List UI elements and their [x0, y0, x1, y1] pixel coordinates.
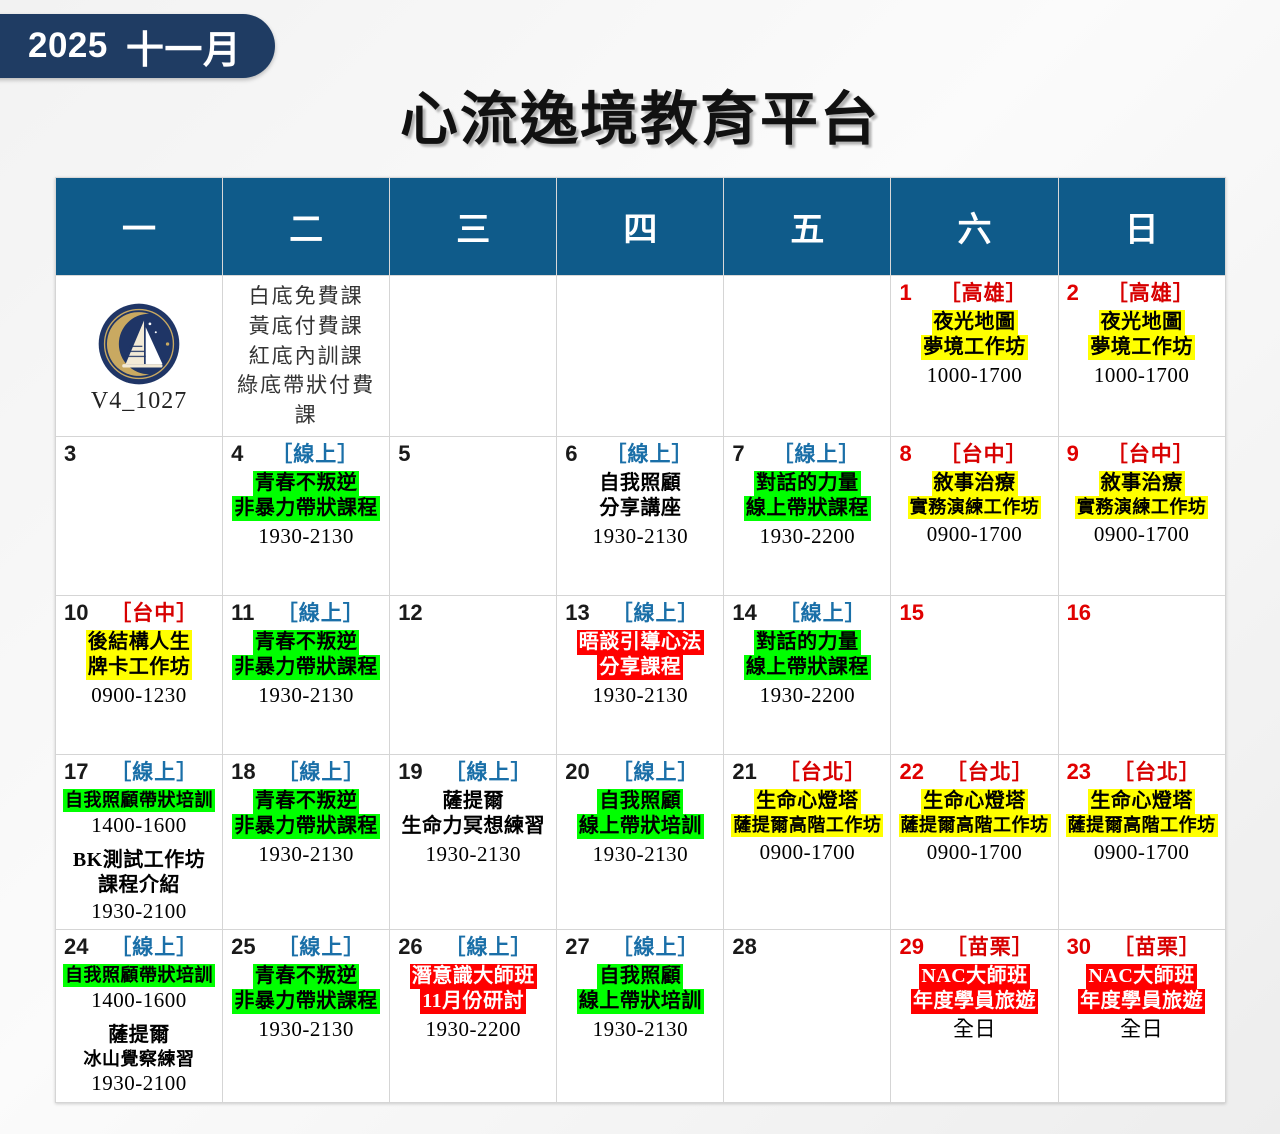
calendar-day-12[interactable]: 12 — [390, 596, 557, 755]
event-title-line2: 夢境工作坊 — [921, 335, 1028, 360]
day-venue: ［線上］ — [264, 602, 385, 624]
weekday-header-row: 一 二 三 四 五 六 日 — [56, 178, 1226, 276]
calendar-day-21[interactable]: 21 ［台北］ 生命心燈塔 薩提爾高階工作坊 0900-1700 — [724, 755, 891, 930]
day-number: 22 — [899, 760, 923, 783]
event-title-line1: 自我照顧 — [561, 471, 719, 496]
event-time: 0900-1700 — [728, 839, 886, 866]
page-title: 心流逸境教育平台 — [0, 72, 1280, 156]
calendar-day-empty — [724, 276, 891, 437]
day-number: 25 — [231, 935, 255, 958]
event-time: 0900-1230 — [60, 682, 218, 709]
calendar-day-2[interactable]: 2 ［高雄］ 夜光地圖 夢境工作坊 1000-1700 — [1058, 276, 1225, 437]
event-item[interactable]: NAC大師班 年度學員旅遊 全日 — [895, 964, 1053, 1043]
event-item[interactable]: 潛意識大師班 11月份研討 1930-2200 — [394, 964, 552, 1043]
event-item[interactable]: 敘事治療 實務演練工作坊 0900-1700 — [1063, 471, 1221, 548]
event-item[interactable]: 晤談引導心法 分享課程 1930-2130 — [561, 630, 719, 709]
event-time: 1930-2130 — [227, 841, 385, 868]
logo-cell: V4_1027 — [56, 276, 223, 437]
badge-month: 十一月 — [126, 19, 242, 74]
event-item[interactable]: 生命心燈塔 薩提爾高階工作坊 0900-1700 — [895, 789, 1053, 866]
day-venue: ［高雄］ — [1089, 282, 1221, 304]
event-title-line2: 線上帶狀培訓 — [577, 814, 704, 839]
calendar-day-24[interactable]: 24 ［線上］ 自我照顧帶狀培訓 1400-1600 薩提爾 冰山覺察練習 19… — [56, 930, 223, 1103]
event-title-line2: 牌卡工作坊 — [86, 655, 193, 680]
event-title-line2: 薩提爾高階工作坊 — [899, 814, 1051, 837]
event-time: 1930-2100 — [60, 898, 218, 925]
day-number: 9 — [1067, 442, 1079, 465]
event-time: 1000-1700 — [1063, 362, 1221, 389]
calendar-day-1[interactable]: 1 ［高雄］ 夜光地圖 夢境工作坊 1000-1700 — [891, 276, 1058, 437]
calendar-week-row: 24 ［線上］ 自我照顧帶狀培訓 1400-1600 薩提爾 冰山覺察練習 19… — [56, 930, 1226, 1103]
calendar-day-16[interactable]: 16 — [1058, 596, 1225, 755]
legend-cell: 白底免費課 黃底付費課 紅底內訓課 綠底帶狀付費課 — [223, 276, 390, 437]
event-item[interactable]: NAC大師班 年度學員旅遊 全日 — [1063, 964, 1221, 1043]
event-item[interactable]: BK測試工作坊 課程介紹 1930-2100 — [60, 848, 218, 925]
legend-item-internal: 紅底內訓課 — [227, 342, 385, 372]
event-item[interactable]: 後結構人生 牌卡工作坊 0900-1230 — [60, 630, 218, 709]
event-title-line2: 非暴力帶狀課程 — [232, 496, 380, 521]
event-title-line2: 冰山覺察練習 — [60, 1048, 218, 1071]
day-venue: ［線上］ — [767, 602, 887, 624]
event-item[interactable]: 生命心燈塔 薩提爾高階工作坊 0900-1700 — [728, 789, 886, 866]
event-time: 1930-2200 — [394, 1016, 552, 1043]
event-item[interactable]: 自我照顧 分享講座 1930-2130 — [561, 471, 719, 550]
calendar-day-11[interactable]: 11 ［線上］ 青春不叛逆 非暴力帶狀課程 1930-2130 — [223, 596, 390, 755]
calendar-day-25[interactable]: 25 ［線上］ 青春不叛逆 非暴力帶狀課程 1930-2130 — [223, 930, 390, 1103]
event-time: 1930-2200 — [728, 682, 886, 709]
calendar-day-28[interactable]: 28 — [724, 930, 891, 1103]
calendar-day-30[interactable]: 30 ［苗栗］ NAC大師班 年度學員旅遊 全日 — [1058, 930, 1225, 1103]
event-time: 0900-1700 — [1063, 521, 1221, 548]
day-venue: ［台北］ — [767, 761, 887, 783]
day-number: 16 — [1067, 601, 1091, 624]
day-venue: ［苗栗］ — [934, 936, 1054, 958]
event-item[interactable]: 自我照顧帶狀培訓 1400-1600 — [60, 964, 218, 1014]
day-venue: ［線上］ — [588, 443, 720, 465]
event-time: 1930-2130 — [227, 523, 385, 550]
event-title-line2: 實務演練工作坊 — [908, 496, 1042, 519]
day-venue: ［線上］ — [98, 936, 218, 958]
event-title-line1: 對話的力量 — [754, 471, 861, 496]
weekday-header-mon: 一 — [56, 178, 223, 276]
day-venue: ［台中］ — [1089, 443, 1221, 465]
event-title-line1: 晤談引導心法 — [577, 630, 704, 655]
event-time: 1930-2130 — [561, 682, 719, 709]
calendar-day-26[interactable]: 26 ［線上］ 潛意識大師班 11月份研討 1930-2200 — [390, 930, 557, 1103]
day-venue: ［高雄］ — [922, 282, 1054, 304]
event-title-line1: 夜光地圖 — [932, 310, 1018, 335]
event-item[interactable]: 青春不叛逆 非暴力帶狀課程 1930-2130 — [227, 789, 385, 868]
calendar-day-4[interactable]: 4 ［線上］ 青春不叛逆 非暴力帶狀課程 1930-2130 — [223, 437, 390, 596]
event-title-line1: 夜光地圖 — [1099, 310, 1185, 335]
weekday-header-sun: 日 — [1058, 178, 1225, 276]
day-number: 5 — [398, 442, 410, 465]
day-venue: ［線上］ — [266, 761, 386, 783]
day-number: 18 — [231, 760, 255, 783]
legend-item-free: 白底免費課 — [227, 282, 385, 312]
calendar-day-5[interactable]: 5 — [390, 437, 557, 596]
event-title-line1: BK測試工作坊 — [60, 848, 218, 873]
event-title-line2: 課程介紹 — [60, 873, 218, 898]
day-number: 19 — [398, 760, 422, 783]
calendar-day-29[interactable]: 29 ［苗栗］ NAC大師班 年度學員旅遊 全日 — [891, 930, 1058, 1103]
event-title-line2: 線上帶狀課程 — [744, 655, 871, 680]
event-title-line2: 線上帶狀課程 — [744, 496, 871, 521]
calendar-day-15[interactable]: 15 — [891, 596, 1058, 755]
calendar-day-23[interactable]: 23 ［台北］ 生命心燈塔 薩提爾高階工作坊 0900-1700 — [1058, 755, 1225, 930]
event-time: 1930-2130 — [227, 1016, 385, 1043]
day-venue: ［線上］ — [600, 936, 720, 958]
day-number: 15 — [899, 601, 923, 624]
event-title-line1: 青春不叛逆 — [253, 630, 360, 655]
event-title-line2: 非暴力帶狀課程 — [232, 814, 380, 839]
event-item[interactable]: 自我照顧帶狀培訓 1400-1600 — [60, 789, 218, 839]
weekday-header-thu: 四 — [557, 178, 724, 276]
event-time: 1400-1600 — [60, 812, 218, 839]
day-number: 23 — [1067, 760, 1091, 783]
event-title-line1: 生命心燈塔 — [754, 789, 861, 814]
calendar-day-6[interactable]: 6 ［線上］ 自我照顧 分享講座 1930-2130 — [557, 437, 724, 596]
day-number: 20 — [565, 760, 589, 783]
day-venue: ［線上］ — [600, 761, 720, 783]
day-number: 10 — [64, 601, 88, 624]
calendar-day-14[interactable]: 14 ［線上］ 對話的力量 線上帶狀課程 1930-2200 — [724, 596, 891, 755]
day-number: 2 — [1067, 281, 1079, 304]
day-venue: ［線上］ — [755, 443, 887, 465]
day-venue: ［線上］ — [600, 602, 720, 624]
event-title-line1: 對話的力量 — [754, 630, 861, 655]
event-title-line1: 潛意識大師班 — [410, 964, 537, 989]
event-title-line2: 年度學員旅遊 — [1078, 989, 1205, 1014]
event-time: 1930-2130 — [227, 682, 385, 709]
event-title-line1: 青春不叛逆 — [253, 471, 360, 496]
event-title-line2: 夢境工作坊 — [1088, 335, 1195, 360]
event-title-line1: NAC大師班 — [919, 964, 1029, 989]
event-title-line2: 薩提爾高階工作坊 — [731, 814, 883, 837]
day-venue: ［線上］ — [98, 761, 218, 783]
event-time: 全日 — [1063, 1016, 1221, 1043]
day-venue: ［線上］ — [433, 936, 553, 958]
event-item[interactable]: 青春不叛逆 非暴力帶狀課程 1930-2130 — [227, 964, 385, 1043]
calendar-day-10[interactable]: 10 ［台中］ 後結構人生 牌卡工作坊 0900-1230 — [56, 596, 223, 755]
event-time: 1930-2130 — [561, 1016, 719, 1043]
month-badge: 2025 十一月 — [0, 14, 275, 78]
event-time: 0900-1700 — [1063, 839, 1221, 866]
day-number: 6 — [565, 442, 577, 465]
day-venue: ［台北］ — [1101, 761, 1221, 783]
calendar-week-row: 10 ［台中］ 後結構人生 牌卡工作坊 0900-1230 1 — [56, 596, 1226, 755]
event-title-line2: 實務演練工作坊 — [1075, 496, 1209, 519]
day-venue: ［台北］ — [934, 761, 1054, 783]
day-venue: ［苗栗］ — [1101, 936, 1221, 958]
day-number: 1 — [899, 281, 911, 304]
event-title-line1: NAC大師班 — [1086, 964, 1196, 989]
event-item[interactable]: 夜光地圖 夢境工作坊 1000-1700 — [1063, 310, 1221, 389]
logo-version-label: V4_1027 — [91, 388, 187, 415]
event-title-line1: 生命心燈塔 — [1088, 789, 1195, 814]
event-item[interactable]: 對話的力量 線上帶狀課程 1930-2200 — [728, 471, 886, 550]
day-number: 21 — [732, 760, 756, 783]
event-title-line1: 自我照顧 — [597, 964, 683, 989]
event-item[interactable]: 對話的力量 線上帶狀課程 1930-2200 — [728, 630, 886, 709]
event-time: 1930-2200 — [728, 523, 886, 550]
event-title-line1: 薩提爾 — [394, 789, 552, 814]
calendar-day-20[interactable]: 20 ［線上］ 自我照顧 線上帶狀培訓 1930-2130 — [557, 755, 724, 930]
event-title-line1: 自我照顧帶狀培訓 — [63, 789, 215, 812]
day-number: 27 — [565, 935, 589, 958]
event-title-line1: 敘事治療 — [932, 471, 1018, 496]
event-title-line1: 青春不叛逆 — [253, 964, 360, 989]
calendar-day-17[interactable]: 17 ［線上］ 自我照顧帶狀培訓 1400-1600 BK測試工作坊 課程介紹 … — [56, 755, 223, 930]
legend-item-paid: 黃底付費課 — [227, 312, 385, 342]
event-item[interactable]: 自我照顧 線上帶狀培訓 1930-2130 — [561, 964, 719, 1043]
event-time: 1930-2130 — [561, 523, 719, 550]
weekday-header-fri: 五 — [724, 178, 891, 276]
calendar-day-3[interactable]: 3 — [56, 437, 223, 596]
day-number: 8 — [899, 442, 911, 465]
event-title-line2: 薩提爾高階工作坊 — [1066, 814, 1218, 837]
day-venue: ［線上］ — [253, 443, 385, 465]
day-number: 4 — [231, 442, 243, 465]
day-number: 24 — [64, 935, 88, 958]
calendar-day-9[interactable]: 9 ［台中］ 敘事治療 實務演練工作坊 0900-1700 — [1058, 437, 1225, 596]
calendar-grid: 一 二 三 四 五 六 日 — [55, 177, 1226, 1103]
calendar-day-empty — [390, 276, 557, 437]
event-title-line2: 年度學員旅遊 — [911, 989, 1038, 1014]
day-number: 7 — [732, 442, 744, 465]
event-item[interactable]: 薩提爾 冰山覺察練習 1930-2100 — [60, 1023, 218, 1098]
event-item[interactable]: 自我照顧 線上帶狀培訓 1930-2130 — [561, 789, 719, 868]
event-title-line1: 生命心燈塔 — [921, 789, 1028, 814]
day-number: 3 — [64, 442, 76, 465]
calendar-day-27[interactable]: 27 ［線上］ 自我照顧 線上帶狀培訓 1930-2130 — [557, 930, 724, 1103]
calendar-week-row: V4_1027 白底免費課 黃底付費課 紅底內訓課 綠底帶狀付費課 — [56, 276, 1226, 437]
weekday-header-sat: 六 — [891, 178, 1058, 276]
legend-item-series-paid: 綠底帶狀付費課 — [227, 371, 385, 431]
event-title-line1: 青春不叛逆 — [253, 789, 360, 814]
event-time: 1930-2130 — [394, 841, 552, 868]
event-item[interactable]: 夜光地圖 夢境工作坊 1000-1700 — [895, 310, 1053, 389]
calendar-day-8[interactable]: 8 ［台中］ 敘事治療 實務演練工作坊 0900-1700 — [891, 437, 1058, 596]
crescent-sailboat-logo-icon — [97, 302, 181, 386]
day-number: 28 — [732, 935, 756, 958]
day-venue: ［台中］ — [98, 602, 218, 624]
badge-year: 2025 — [28, 26, 108, 66]
day-venue: ［線上］ — [433, 761, 553, 783]
day-venue: ［台中］ — [922, 443, 1054, 465]
day-number: 12 — [398, 601, 422, 624]
day-number: 30 — [1067, 935, 1091, 958]
event-title-line1: 薩提爾 — [60, 1023, 218, 1048]
calendar-day-7[interactable]: 7 ［線上］ 對話的力量 線上帶狀課程 1930-2200 — [724, 437, 891, 596]
event-time: 0900-1700 — [895, 839, 1053, 866]
event-time: 1930-2100 — [60, 1070, 218, 1097]
day-number: 17 — [64, 760, 88, 783]
event-item[interactable]: 生命心燈塔 薩提爾高階工作坊 0900-1700 — [1063, 789, 1221, 866]
weekday-header-tue: 二 — [223, 178, 390, 276]
day-number: 26 — [398, 935, 422, 958]
event-title-line2: 11月份研討 — [420, 989, 526, 1014]
calendar-day-18[interactable]: 18 ［線上］ 青春不叛逆 非暴力帶狀課程 1930-2130 — [223, 755, 390, 930]
calendar-week-row: 17 ［線上］ 自我照顧帶狀培訓 1400-1600 BK測試工作坊 課程介紹 … — [56, 755, 1226, 930]
event-item[interactable]: 敘事治療 實務演練工作坊 0900-1700 — [895, 471, 1053, 548]
calendar-day-19[interactable]: 19 ［線上］ 薩提爾 生命力冥想練習 1930-2130 — [390, 755, 557, 930]
event-title-line1: 自我照顧帶狀培訓 — [63, 964, 215, 987]
event-title-line1: 後結構人生 — [86, 630, 193, 655]
event-time: 1930-2130 — [561, 841, 719, 868]
event-title-line2: 線上帶狀培訓 — [577, 989, 704, 1014]
event-item[interactable]: 青春不叛逆 非暴力帶狀課程 1930-2130 — [227, 471, 385, 550]
event-time: 1400-1600 — [60, 987, 218, 1014]
event-title-line2: 生命力冥想練習 — [394, 814, 552, 839]
event-title-line2: 分享課程 — [597, 655, 683, 680]
weekday-header-wed: 三 — [390, 178, 557, 276]
event-time: 0900-1700 — [895, 521, 1053, 548]
event-item[interactable]: 青春不叛逆 非暴力帶狀課程 1930-2130 — [227, 630, 385, 709]
event-title-line1: 自我照顧 — [597, 789, 683, 814]
calendar-day-13[interactable]: 13 ［線上］ 晤談引導心法 分享課程 1930-2130 — [557, 596, 724, 755]
event-title-line2: 非暴力帶狀課程 — [232, 989, 380, 1014]
event-time: 全日 — [895, 1016, 1053, 1043]
event-title-line2: 非暴力帶狀課程 — [232, 655, 380, 680]
calendar-day-empty — [557, 276, 724, 437]
day-number: 11 — [231, 601, 254, 624]
calendar-day-22[interactable]: 22 ［台北］ 生命心燈塔 薩提爾高階工作坊 0900-1700 — [891, 755, 1058, 930]
day-number: 13 — [565, 601, 589, 624]
event-title-line2: 分享講座 — [561, 496, 719, 521]
calendar-week-row: 3 4 ［線上］ 青春不叛逆 非暴力帶狀課程 1930-2130 — [56, 437, 1226, 596]
event-title-line1: 敘事治療 — [1099, 471, 1185, 496]
event-item[interactable]: 薩提爾 生命力冥想練習 1930-2130 — [394, 789, 552, 868]
day-number: 14 — [732, 601, 756, 624]
day-venue: ［線上］ — [266, 936, 386, 958]
day-number: 29 — [899, 935, 923, 958]
event-time: 1000-1700 — [895, 362, 1053, 389]
